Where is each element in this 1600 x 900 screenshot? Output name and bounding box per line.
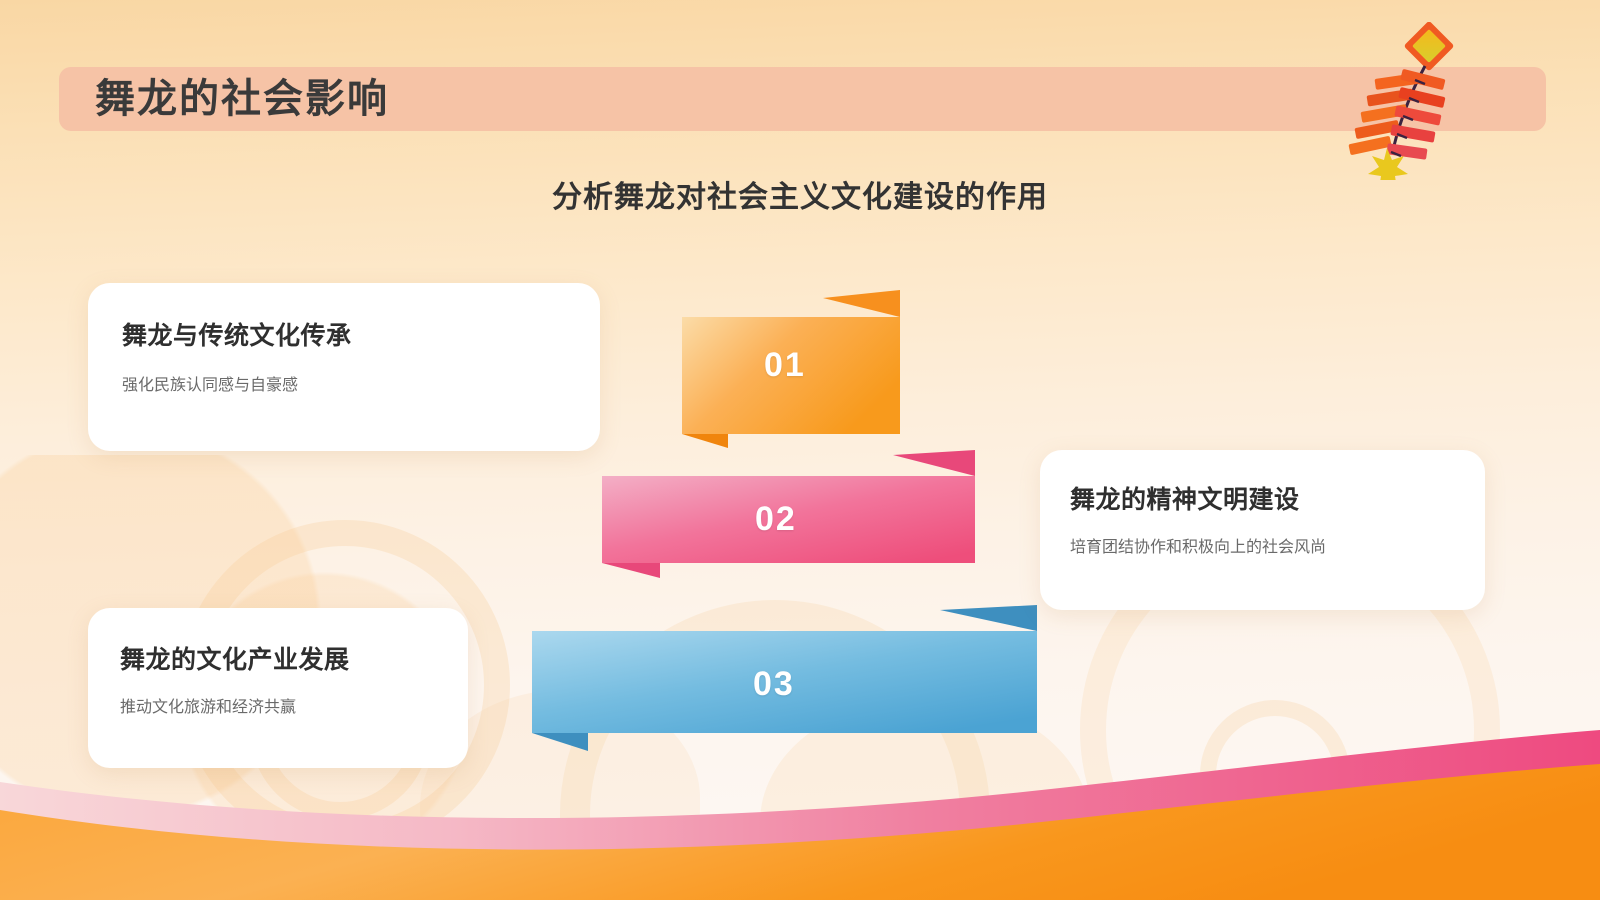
ribbon-fold-top (940, 605, 1037, 631)
info-card-title: 舞龙与传统文化传承 (122, 316, 352, 352)
info-card-subtitle: 培育团结协作和积极向上的社会风尚 (1070, 533, 1326, 557)
wave-decoration (0, 680, 1600, 900)
ribbon-number-label: 01 (764, 346, 806, 385)
page-title: 舞龙的社会影响 (95, 64, 389, 134)
diamond-icon (1404, 22, 1455, 71)
ribbon-banner-01[interactable]: 01 (660, 290, 920, 460)
ribbon-fold-bottom (602, 563, 660, 578)
page-subtitle: 分析舞龙对社会主义文化建设的作用 (0, 172, 1600, 216)
firecracker-icon (1337, 22, 1457, 180)
ribbon-number-label: 02 (755, 500, 797, 539)
ribbon-fold-top (893, 450, 975, 476)
ribbon-fold-top (823, 290, 900, 317)
ribbon-banner-02[interactable]: 02 (590, 450, 990, 590)
info-card-title: 舞龙的精神文明建设 (1070, 480, 1300, 516)
info-card-1[interactable]: 舞龙与传统文化传承 强化民族认同感与自豪感 (88, 283, 600, 451)
info-card-title: 舞龙的文化产业发展 (120, 640, 350, 676)
ribbon-fold-bottom (682, 434, 728, 448)
info-card-subtitle: 强化民族认同感与自豪感 (122, 371, 298, 395)
info-card-2[interactable]: 舞龙的精神文明建设 培育团结协作和积极向上的社会风尚 (1040, 450, 1485, 610)
slide-canvas: 舞龙的社会影响 (0, 0, 1600, 900)
